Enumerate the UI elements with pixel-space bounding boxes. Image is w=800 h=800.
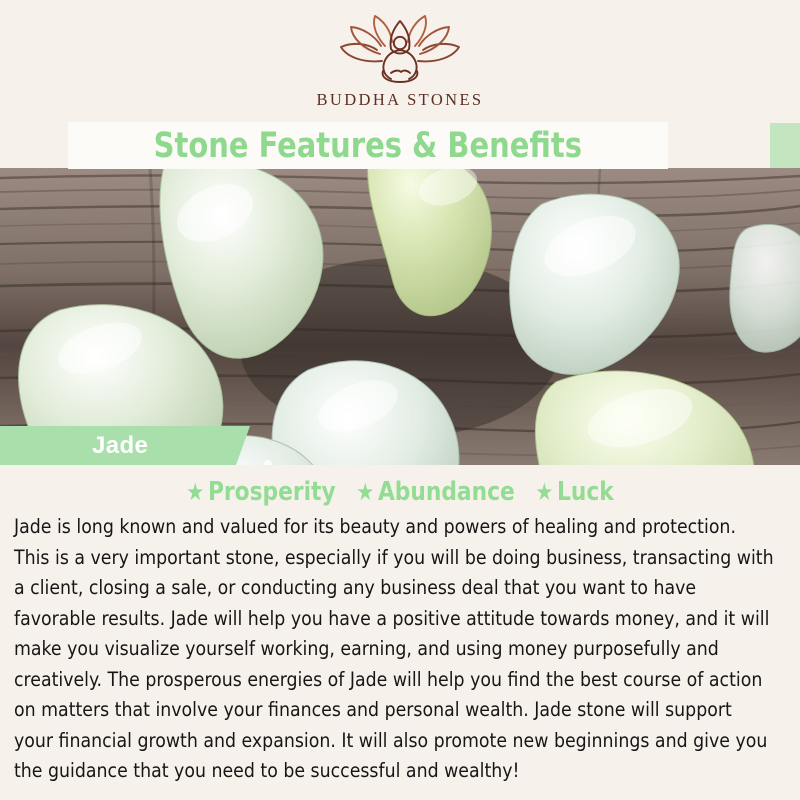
star-icon: ★: [356, 478, 374, 506]
benefit-label: Prosperity: [208, 477, 336, 507]
content-section: ★Prosperity ★Abundance ★Luck Jade is lon…: [0, 465, 800, 800]
benefits-list: ★Prosperity ★Abundance ★Luck: [28, 477, 772, 507]
title-banner: Stone Features & Benefits: [68, 122, 668, 169]
brand-header: BUDDHA STONES: [0, 0, 800, 123]
stone-description: Jade is long known and valued for its be…: [14, 512, 774, 787]
stone-info-poster: BUDDHA STONES Stone Features & Benefits: [0, 0, 800, 800]
benefit-label: Luck: [557, 477, 614, 507]
benefit-item: ★Prosperity: [186, 477, 335, 507]
brand-name: BUDDHA STONES: [316, 90, 483, 110]
star-icon: ★: [535, 478, 553, 506]
stone-name-banner: Jade: [0, 426, 250, 465]
benefit-item: ★Abundance: [356, 477, 515, 507]
jade-stones-image: [0, 168, 800, 465]
benefit-label: Abundance: [378, 477, 515, 507]
stone-photo: [0, 168, 800, 465]
page-title: Stone Features & Benefits: [154, 126, 582, 166]
lotus-meditation-icon: [325, 13, 475, 85]
star-icon: ★: [186, 478, 204, 506]
stone-name: Jade: [92, 432, 148, 460]
benefit-item: ★Luck: [535, 477, 613, 507]
